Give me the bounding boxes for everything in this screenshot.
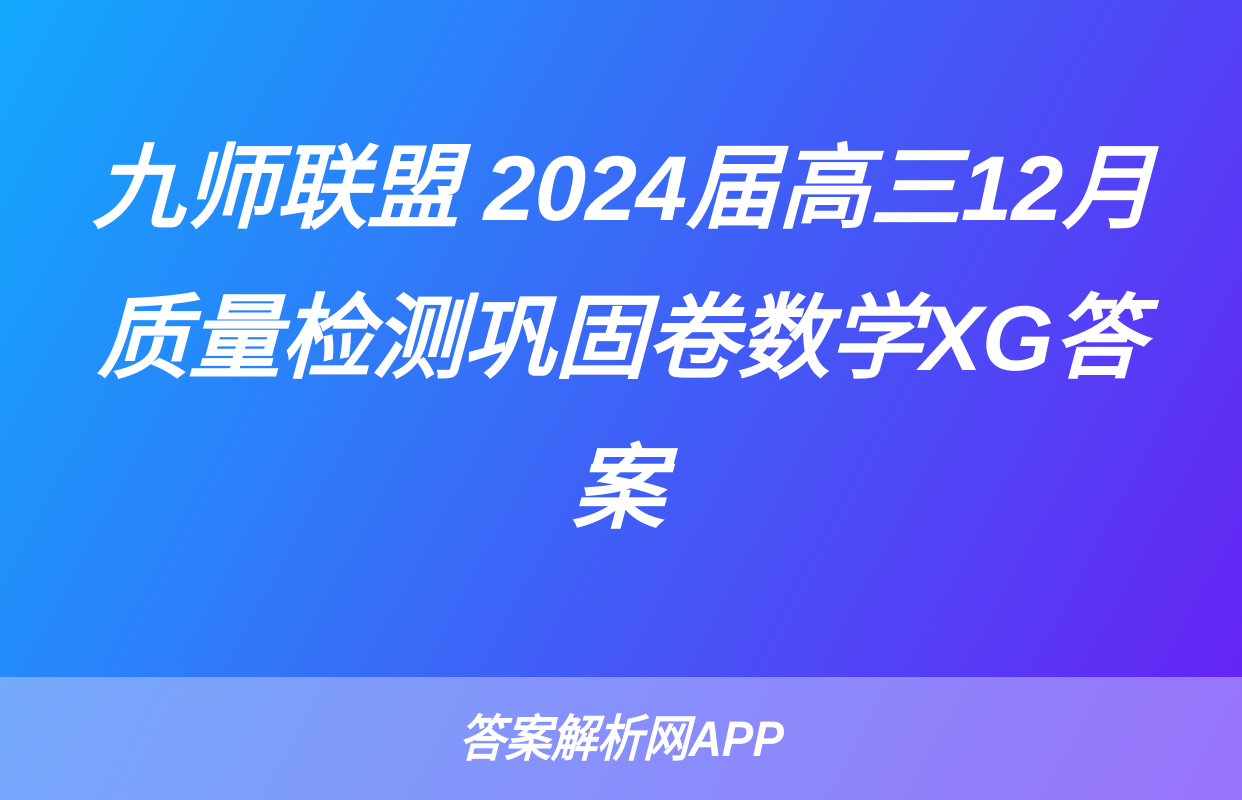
page-title: 九师联盟 2024届高三12月质量检测巩固卷数学XG答案 — [81, 114, 1161, 564]
poster-title-block: 九师联盟 2024届高三12月质量检测巩固卷数学XG答案 — [85, 114, 1157, 564]
poster-hero-background: 九师联盟 2024届高三12月质量检测巩固卷数学XG答案 — [0, 0, 1242, 677]
watermark-band: 答案解析网APP — [0, 677, 1242, 800]
watermark-text: 答案解析网APP — [458, 712, 784, 766]
poster-canvas: 九师联盟 2024届高三12月质量检测巩固卷数学XG答案 答案解析网APP — [0, 0, 1242, 800]
